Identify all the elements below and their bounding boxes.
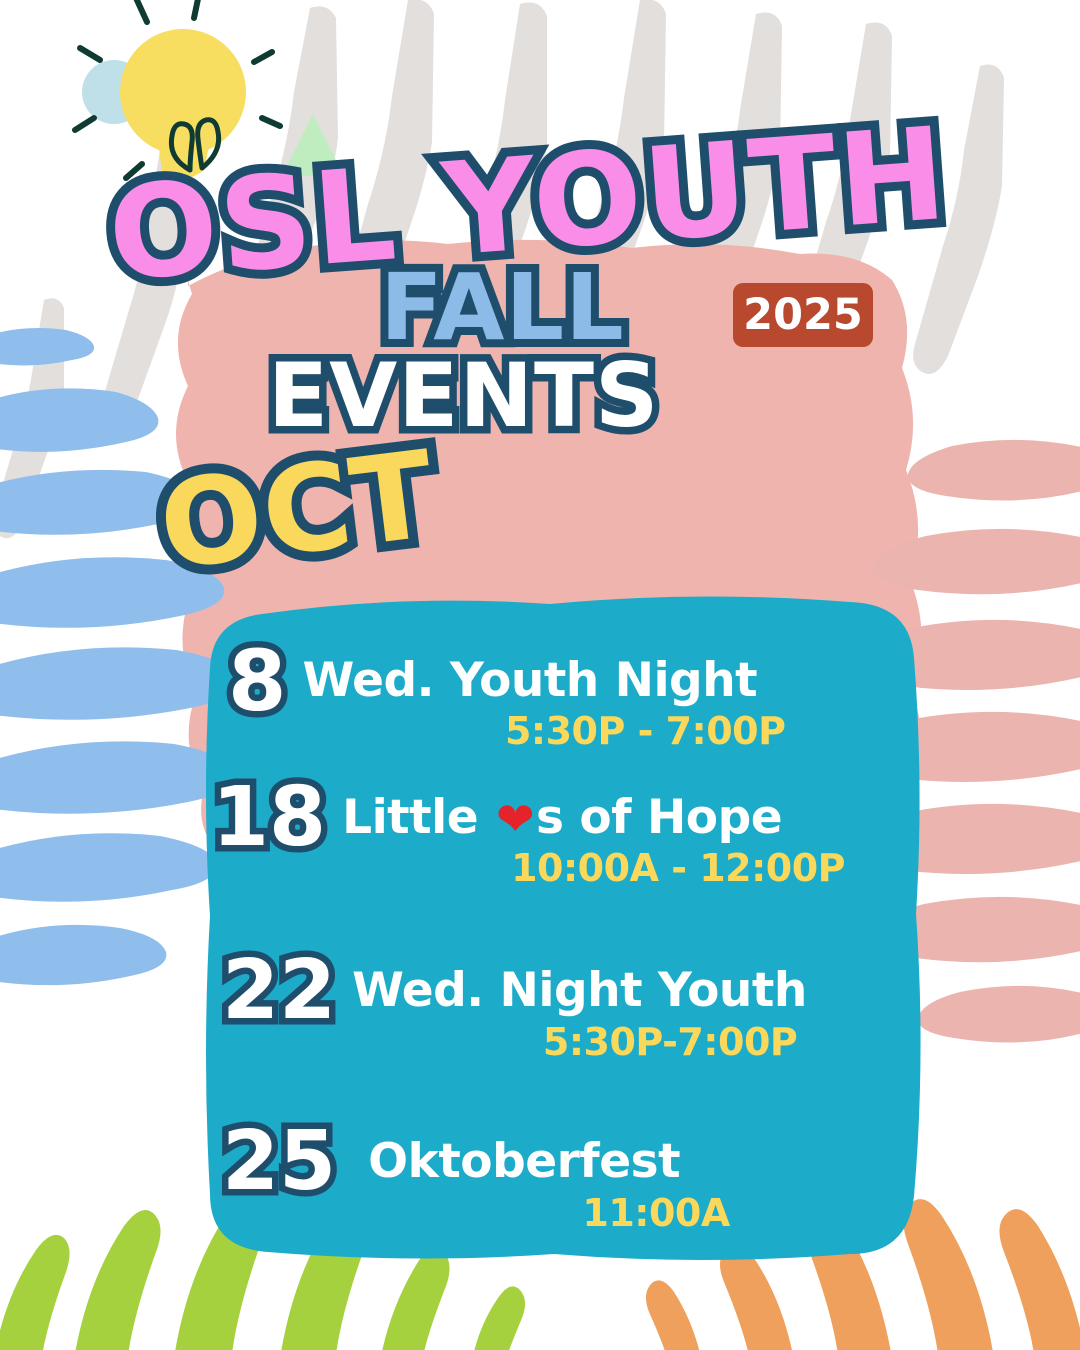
event-title: Little ❤s of Hope	[342, 779, 1080, 842]
event-title-text: Little	[342, 790, 494, 845]
event-item[interactable]: 25 Oktoberfest 11:00A	[0, 1123, 1080, 1234]
title-fall: FALL	[380, 262, 625, 354]
event-title-text: Wed. Youth Night	[302, 653, 757, 708]
event-item[interactable]: 18 Little ❤s of Hope 10:00A - 12:00P	[0, 779, 1080, 890]
event-time: 10:00A - 12:00P	[342, 842, 1080, 890]
event-title-text: Oktoberfest	[368, 1134, 680, 1189]
event-body: Wed. Youth Night 5:30P - 7:00P	[302, 642, 1080, 753]
event-day: 18	[212, 779, 326, 857]
event-day: 8	[228, 642, 286, 722]
event-title: Wed. Night Youth	[352, 952, 1080, 1015]
poster-canvas: OSL YOUTH FALL EVENTS OCT 2025 8 Wed. Yo…	[0, 0, 1080, 1350]
event-item[interactable]: 8 Wed. Youth Night 5:30P - 7:00P	[0, 642, 1080, 753]
event-body: Little ❤s of Hope 10:00A - 12:00P	[342, 779, 1080, 890]
event-title: Wed. Youth Night	[302, 642, 1080, 705]
month-label: OCT	[154, 436, 442, 589]
event-time: 5:30P - 7:00P	[302, 705, 1080, 753]
event-title: Oktoberfest	[352, 1123, 1080, 1186]
event-day: 25	[222, 1123, 336, 1201]
heart-icon: ❤	[496, 796, 534, 842]
event-body: Wed. Night Youth 5:30P-7:00P	[352, 952, 1080, 1063]
event-item[interactable]: 22 Wed. Night Youth 5:30P-7:00P	[0, 952, 1080, 1063]
event-title-text-post: s of Hope	[536, 790, 782, 845]
event-body: Oktoberfest 11:00A	[352, 1123, 1080, 1234]
event-title-text: Wed. Night Youth	[352, 963, 807, 1018]
title-events: EVENTS	[268, 352, 659, 440]
event-time: 5:30P-7:00P	[352, 1016, 1080, 1064]
events-list: 8 Wed. Youth Night 5:30P - 7:00P 18 Litt…	[0, 620, 1080, 1235]
year-badge: 2025	[733, 283, 873, 347]
event-day: 22	[222, 952, 336, 1030]
headline-group: OSL YOUTH FALL EVENTS OCT	[0, 0, 1080, 640]
event-time: 11:00A	[352, 1187, 1080, 1235]
